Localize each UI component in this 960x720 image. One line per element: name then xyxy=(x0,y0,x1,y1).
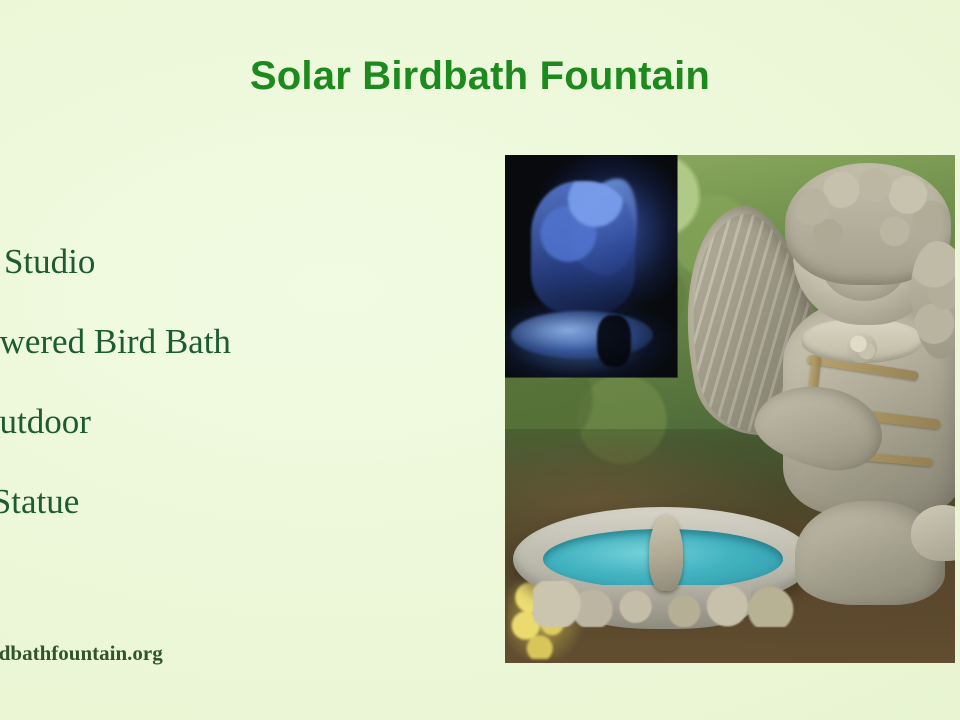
description-line-1: Joseph's Studio xyxy=(0,222,440,302)
description-line-4: Garden Statue xyxy=(0,462,440,542)
night-view-inset xyxy=(505,155,677,377)
site-url-text: www.solarbirdbathfountain.org xyxy=(0,641,163,666)
angel-statue xyxy=(675,155,955,619)
product-description: Joseph's Studio Solar Powered Bird Bath … xyxy=(0,222,440,542)
night-angel-body xyxy=(531,181,635,313)
product-photo xyxy=(505,155,955,663)
description-line-2: Solar Powered Bird Bath xyxy=(0,302,440,382)
night-bowl-glow xyxy=(511,311,653,359)
night-bird-silhouette xyxy=(597,315,631,367)
page-title: Solar Birdbath Fountain xyxy=(0,54,960,99)
angel-rosette xyxy=(847,333,877,363)
slide-canvas: Solar Birdbath Fountain Joseph's Studio … xyxy=(0,0,960,720)
description-line-3: Angel Outdoor xyxy=(0,382,440,462)
